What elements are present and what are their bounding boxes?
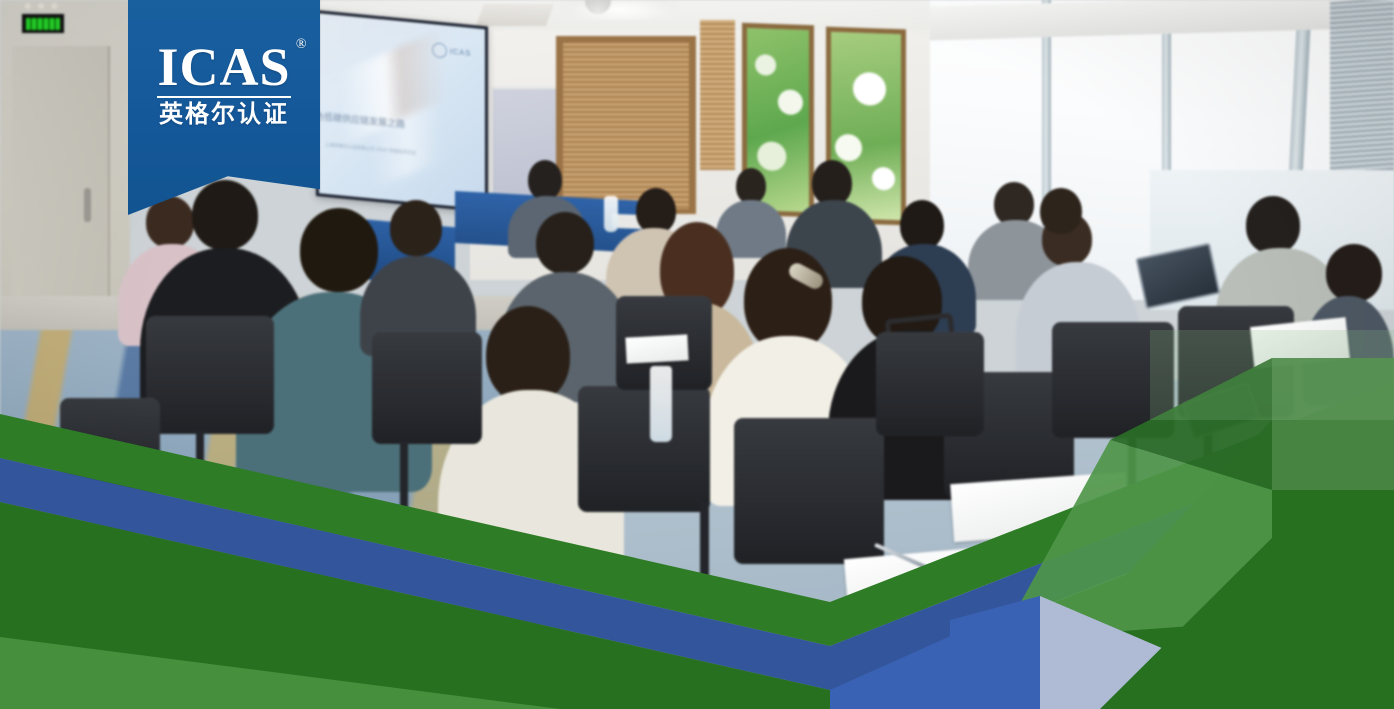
banner-root: ICAS 架 核算与绿色低碳供应链发展之路 上海英格尔认证有限公司 2024 年… (0, 0, 1394, 709)
shape-pale-green-panel-upper (1150, 330, 1394, 420)
geometric-band-overlay (0, 0, 1394, 709)
